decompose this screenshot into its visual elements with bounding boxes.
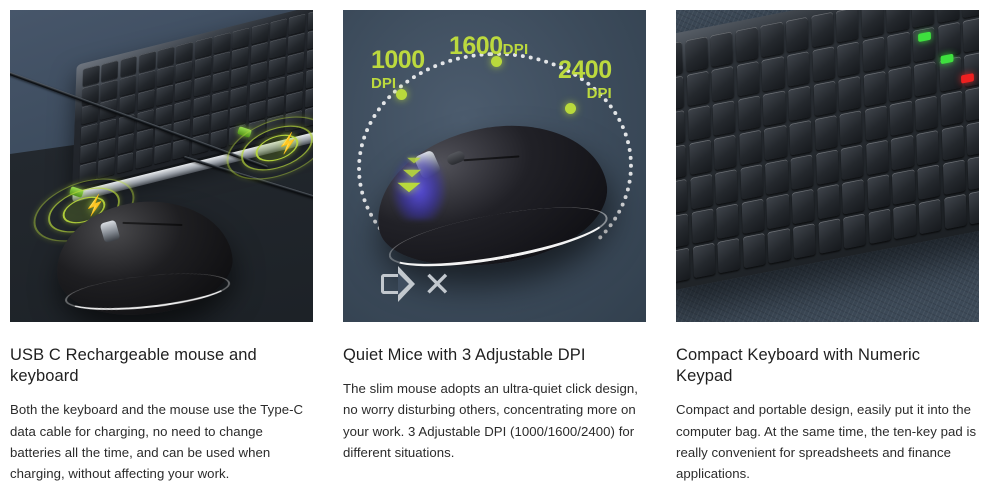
- keyboard-image: [676, 10, 979, 293]
- dpi-unit: DPI: [558, 86, 612, 101]
- keyboard-keys: [676, 10, 979, 283]
- dpi-unit: DPI: [503, 41, 529, 58]
- dpi-label-2400: 2400 DPI: [558, 58, 612, 101]
- feature-heading: Compact Keyboard with Numeric Keypad: [676, 345, 979, 387]
- feature-heading: USB C Rechargeable mouse and keyboard: [10, 345, 313, 387]
- down-chevron-icon: [407, 158, 421, 164]
- speaker-body: [381, 274, 399, 294]
- feature-column-dpi: 1000 DPI 1600DPI 2400 DPI: [343, 10, 646, 500]
- product-image-dpi: 1000 DPI 1600DPI 2400 DPI: [343, 10, 646, 322]
- dpi-node-icon: [565, 103, 576, 114]
- product-image-usb-c: ⚡ ⚡: [10, 10, 313, 322]
- dpi-value: 2400: [558, 56, 612, 84]
- close-icon: ✕: [423, 268, 452, 302]
- speaker-horn: [398, 266, 415, 302]
- scroll-wheel-icon: [100, 219, 121, 243]
- down-chevron-icon: [397, 183, 420, 192]
- feature-body: Compact and portable design, easily put …: [676, 399, 979, 485]
- mouse-button-split: [464, 155, 520, 161]
- feature-column-usb-c: ⚡ ⚡ USB C Rechargeable mouse and keyboar…: [10, 10, 313, 500]
- feature-body: Both the keyboard and the mouse use the …: [10, 399, 313, 485]
- feature-body: The slim mouse adopts an ultra-quiet cli…: [343, 378, 646, 464]
- product-image-keypad: [676, 10, 979, 322]
- feature-grid: ⚡ ⚡ USB C Rechargeable mouse and keyboar…: [0, 0, 991, 500]
- dpi-button-icon: [445, 150, 466, 167]
- down-chevron-icon: [403, 170, 421, 177]
- dpi-unit: DPI: [371, 76, 425, 91]
- dpi-label-1600: 1600DPI: [449, 34, 529, 59]
- mouse-button-split: [123, 222, 183, 226]
- feature-column-keypad: Compact Keyboard with Numeric Keypad Com…: [676, 10, 979, 500]
- dpi-value: 1600: [449, 32, 503, 60]
- dpi-label-1000: 1000 DPI: [371, 48, 425, 91]
- dpi-value: 1000: [371, 46, 425, 74]
- feature-heading: Quiet Mice with 3 Adjustable DPI: [343, 345, 646, 366]
